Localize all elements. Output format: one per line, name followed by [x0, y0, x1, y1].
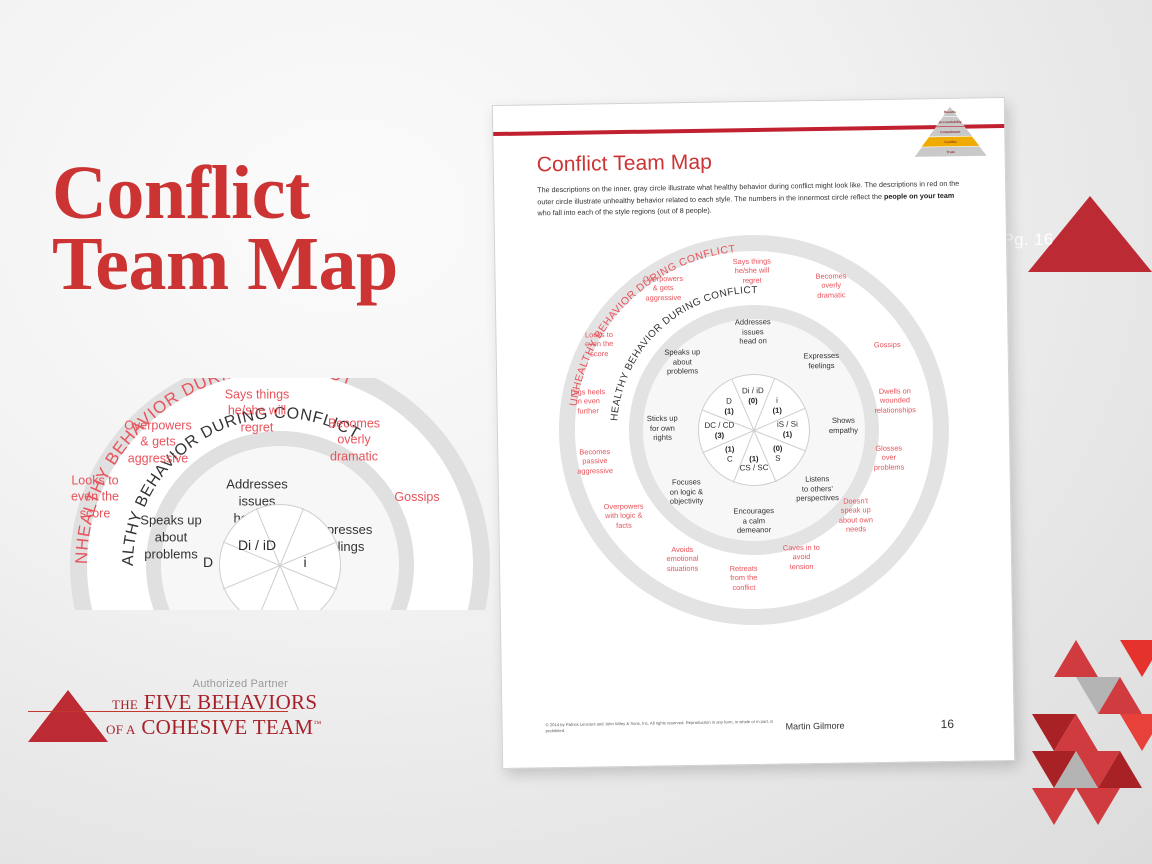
style-code: S: [773, 453, 782, 463]
fan-unhealthy-label-line: score: [71, 505, 119, 521]
logo-line1: THE FIVE BEHAVIORS: [112, 690, 292, 715]
decorative-triangle-icon: [1032, 788, 1076, 825]
healthy-label-line: Focuses: [670, 477, 704, 487]
healthy-label: Expressesfeelings: [803, 351, 839, 371]
unhealthy-label: Avoidsemotionalsituations: [666, 545, 698, 574]
document-page: ResultsAccountabilityCommitmentConflictT…: [492, 97, 1015, 769]
style-count: (3): [705, 431, 735, 441]
unhealthy-label-line: Digs heels: [571, 387, 606, 397]
unhealthy-label-line: problems: [874, 462, 905, 472]
document-intro-paragraph: The descriptions on the inner, gray circ…: [537, 178, 961, 220]
healthy-label-line: Shows: [829, 416, 858, 426]
healthy-label-line: perspectives: [796, 494, 839, 504]
unhealthy-label-line: in even: [571, 397, 606, 407]
unhealthy-label-line: speak up: [839, 506, 873, 516]
style-count: (1): [777, 430, 798, 440]
conflict-team-map-chart: UNHEALTHY BEHAVIOR DURING CONFLICT HEALT…: [555, 232, 951, 628]
logo-line2: OF A COHESIVE TEAM™: [106, 715, 296, 740]
unhealthy-label: Becomespassiveaggressive: [577, 447, 613, 476]
fan-unhealthy-label-line: Says things: [225, 387, 290, 403]
healthy-label: Listensto others'perspectives: [796, 474, 839, 504]
healthy-label-line: head on: [735, 337, 771, 347]
style-count: (1): [725, 445, 734, 455]
unhealthy-label-line: facts: [604, 520, 644, 530]
document-author: Martin Gilmore: [786, 721, 845, 732]
fan-unhealthy-label-line: Overpowers: [124, 418, 191, 434]
triangle-decoration: [1010, 640, 1152, 820]
style-segment: i(1): [772, 396, 782, 416]
decorative-triangle-icon: [1098, 751, 1142, 788]
pyramid-label: Commitment: [940, 130, 961, 134]
unhealthy-label-line: passive: [577, 456, 613, 466]
pyramid-label: Conflict: [944, 140, 957, 144]
fan-healthy-label-line: Addresses: [226, 477, 287, 494]
fan-unhealthy-label-line: even the: [71, 489, 119, 505]
fan-unhealthy-label: Becomesoverlydramatic: [328, 416, 380, 465]
fan-style-code: D: [203, 554, 213, 570]
fan-unhealthy-label: Says thingshe/she willregret: [225, 387, 290, 436]
unhealthy-label-line: conflict: [730, 583, 758, 593]
unhealthy-label-line: Glosses: [873, 443, 904, 453]
unhealthy-label-line: from the: [730, 573, 758, 583]
fan-healthy-label-line: Speaks up: [140, 513, 201, 530]
fan-unhealthy-label: Gossips: [394, 489, 439, 505]
healthy-label-line: objectivity: [670, 497, 704, 507]
healthy-label-line: about: [664, 357, 700, 367]
decorative-triangle-icon: [1120, 640, 1152, 677]
five-behaviors-pyramid-icon: ResultsAccountabilityCommitmentConflictT…: [914, 106, 987, 157]
style-code: C: [725, 454, 734, 464]
unhealthy-label-line: emotional: [666, 554, 698, 564]
unhealthy-label: Glossesoverproblems: [873, 443, 904, 472]
unhealthy-label-line: Overpowers: [643, 274, 683, 284]
style-count: (1): [772, 406, 781, 416]
fan-unhealthy-label-line: Looks to: [71, 473, 119, 489]
fan-unhealthy-label-line: regret: [225, 419, 290, 435]
intro-part2: who fall into each of the style regions …: [537, 206, 711, 218]
healthy-label: Showsempathy: [829, 416, 858, 436]
pyramid-label: Results: [944, 110, 956, 114]
style-code: Di / iD: [742, 386, 764, 396]
unhealthy-label: Caves in toavoidtension: [783, 543, 820, 572]
logo-ofa: OF A: [106, 722, 136, 737]
unhealthy-label: Looks toeven thescore: [585, 330, 614, 359]
style-count: (1): [724, 407, 733, 417]
logo-five-behaviors: FIVE BEHAVIORS: [144, 690, 318, 714]
decorative-triangle-icon: [1054, 640, 1098, 677]
fan-healthy-label-line: about: [140, 530, 201, 547]
healthy-label-line: Expresses: [803, 351, 839, 361]
slide-canvas: Conflict Team Map Pg. 16 Authorized Part…: [0, 0, 1152, 864]
healthy-label-line: rights: [647, 433, 678, 443]
healthy-label: Encouragesa calmdemeanor: [733, 506, 774, 536]
healthy-label-line: feelings: [804, 361, 840, 371]
style-segment: (0)S: [773, 444, 783, 464]
unhealthy-label-line: Doesn't: [838, 496, 872, 506]
style-segment: (1)CS / SC: [739, 454, 768, 474]
healthy-label: Addressesissueshead on: [735, 317, 771, 347]
fan-style-code: Di / iD: [238, 537, 276, 553]
style-segment: Di / iD(0): [742, 386, 764, 406]
fan-unhealthy-label-line: aggressive: [124, 450, 191, 466]
logo-trademark: ™: [313, 719, 321, 728]
pyramid-label: Trust: [947, 150, 956, 154]
healthy-label-line: issues: [735, 327, 771, 337]
fan-unhealthy-label: Looks toeven thescore: [71, 473, 119, 522]
fan-healthy-label: Speaks upaboutproblems: [140, 513, 201, 564]
unhealthy-label-line: needs: [839, 525, 873, 535]
healthy-label: Speaks upaboutproblems: [664, 347, 700, 377]
style-count: (1): [739, 454, 768, 464]
unhealthy-label-line: even the: [585, 339, 614, 349]
page-title: Conflict Team Map: [52, 158, 482, 301]
style-count: (0): [742, 396, 764, 406]
unhealthy-label-line: about own: [839, 515, 873, 525]
fan-healthy-label-line: problems: [140, 546, 201, 563]
fan-unhealthy-label-line: & gets: [124, 434, 191, 450]
unhealthy-label: Doesn'tspeak upabout ownneeds: [838, 496, 873, 534]
unhealthy-label: Overpowers& getsaggressive: [643, 274, 683, 303]
unhealthy-label: Dwells onwoundedrelationships: [874, 386, 916, 415]
style-segment: iS / Si(1): [777, 420, 798, 440]
healthy-label: Focuseson logic &objectivity: [670, 477, 704, 507]
unhealthy-label-line: with logic &: [604, 511, 644, 521]
unhealthy-label: Digs heelsin evenfurther: [571, 387, 606, 416]
fan-unhealthy-label-line: he/she will: [225, 403, 290, 419]
healthy-label-line: Encourages: [733, 506, 774, 516]
fan-unhealthy-label-line: Gossips: [394, 489, 439, 505]
style-code: iS / Si: [777, 420, 798, 430]
style-segment: (1)C: [725, 445, 735, 465]
unhealthy-label: Says thingshe/she willregret: [733, 257, 772, 286]
fan-unhealthy-label-line: Becomes: [328, 416, 380, 432]
magnified-fan-diagram: UNHEALTHY BEHAVIOR DURING CONFLICT HEALT…: [60, 378, 500, 610]
unhealthy-label-line: dramatic: [816, 290, 847, 300]
healthy-label-line: for own: [647, 423, 678, 433]
fan-inner: UNHEALTHY BEHAVIOR DURING CONFLICT HEALT…: [60, 378, 500, 610]
pyramid-label: Accountability: [939, 120, 962, 124]
unhealthy-label-line: Gossips: [874, 340, 901, 350]
style-segment: DC / CD(3): [704, 421, 734, 441]
unhealthy-label-line: tension: [783, 562, 820, 572]
style-code: DC / CD: [704, 421, 734, 431]
fan-unhealthy-label-line: overly: [328, 432, 380, 448]
unhealthy-label-line: regret: [733, 275, 771, 285]
pyramid-svg: ResultsAccountabilityCommitmentConflictT…: [914, 106, 987, 157]
copyright-text: © 2014 by Patrick Lencioni and John Wile…: [546, 719, 776, 735]
unhealthy-label-line: Avoids: [666, 545, 698, 555]
unhealthy-label-line: Retreats: [730, 564, 758, 574]
healthy-label-line: Speaks up: [664, 347, 700, 357]
unhealthy-label-line: aggressive: [643, 293, 683, 303]
unhealthy-label-line: Becomes: [816, 271, 847, 281]
unhealthy-label: Gossips: [874, 340, 901, 350]
logo-triangle-icon: [28, 690, 108, 742]
style-code: i: [772, 396, 781, 406]
unhealthy-label: Overpowerswith logic &facts: [604, 502, 644, 531]
unhealthy-label-line: score: [585, 349, 614, 359]
unhealthy-label-line: Becomes: [577, 447, 613, 457]
fan-unhealthy-label-line: dramatic: [328, 448, 380, 464]
page-title-line2: Team Map: [52, 229, 482, 300]
unhealthy-label-line: over: [874, 453, 905, 463]
document-page-number: 16: [940, 717, 954, 731]
decorative-triangle-icon: [1054, 714, 1098, 751]
unhealthy-label-line: he/she will: [733, 266, 771, 276]
healthy-label-line: demeanor: [734, 526, 775, 536]
unhealthy-label-line: aggressive: [577, 466, 613, 476]
page-number-badge: Pg. 16: [1028, 196, 1152, 272]
fan-style-code: i: [303, 554, 306, 570]
healthy-label-line: problems: [665, 367, 701, 377]
unhealthy-label-line: Looks to: [585, 330, 614, 340]
unhealthy-label: Retreatsfrom theconflict: [730, 564, 758, 593]
healthy-label-line: on logic &: [670, 487, 704, 497]
style-count: (0): [773, 444, 782, 454]
unhealthy-label-line: overly: [816, 281, 847, 291]
unhealthy-label-line: further: [571, 406, 606, 416]
unhealthy-label-line: situations: [667, 564, 699, 574]
intro-bold: people on your team: [884, 190, 954, 200]
decorative-triangle-icon: [1076, 788, 1120, 825]
logo-cohesive-team: COHESIVE TEAM: [141, 715, 313, 739]
document-title: Conflict Team Map: [537, 151, 713, 178]
unhealthy-label-line: Caves in to: [783, 543, 820, 553]
style-code: CS / SC: [740, 464, 769, 474]
style-code: D: [724, 397, 733, 407]
authorized-partner-label: Authorized Partner: [120, 678, 288, 690]
logo-the: THE: [112, 697, 138, 712]
brand-logo: Authorized Partner THE FIVE BEHAVIORS OF…: [28, 678, 288, 748]
unhealthy-label: Becomesoverlydramatic: [816, 271, 847, 300]
healthy-label-line: Sticks up: [647, 414, 678, 424]
healthy-label-line: empathy: [829, 425, 858, 435]
unhealthy-label-line: avoid: [783, 552, 820, 562]
healthy-label: Sticks upfor ownrights: [647, 414, 678, 444]
fan-unhealthy-label: Overpowers& getsaggressive: [124, 418, 191, 467]
decorative-triangle-icon: [1098, 677, 1142, 714]
healthy-label-line: Addresses: [735, 317, 771, 327]
healthy-label-line: a calm: [734, 516, 775, 526]
unhealthy-label-line: relationships: [874, 405, 916, 415]
decorative-triangle-icon: [1120, 714, 1152, 751]
style-segment: D(1): [724, 397, 734, 417]
